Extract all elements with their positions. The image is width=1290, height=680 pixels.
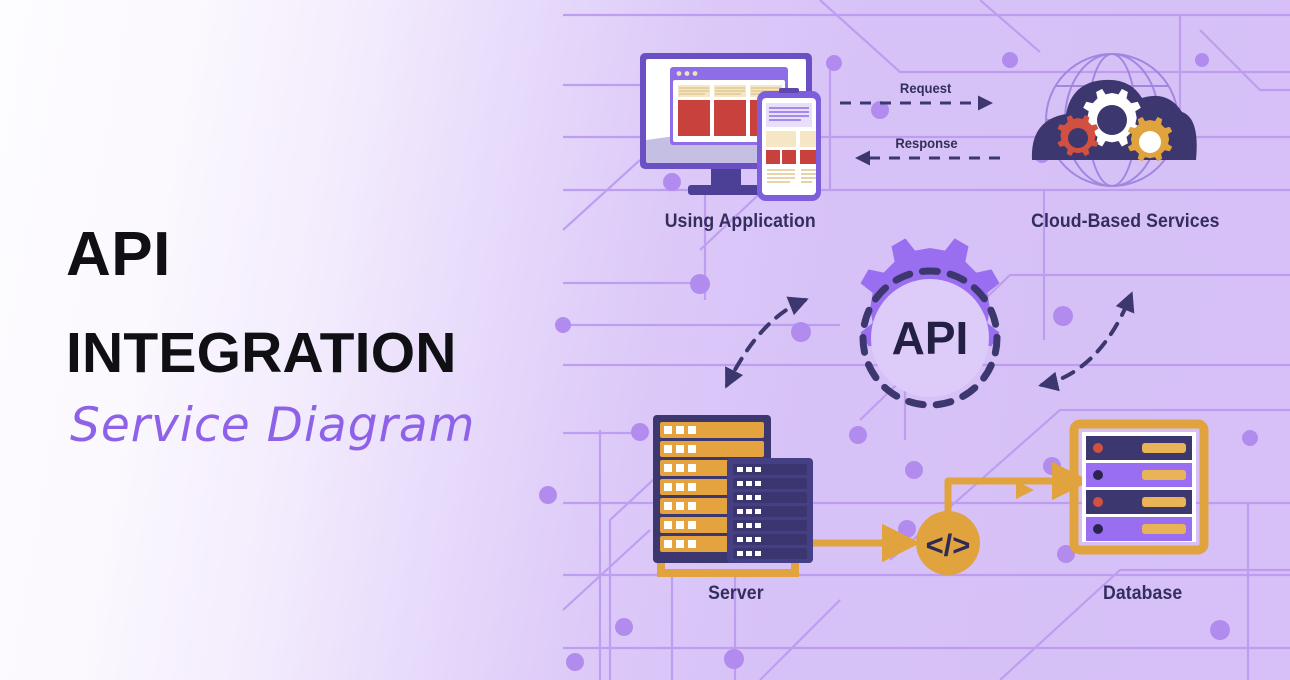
api-gear-node[interactable]: API (861, 238, 1000, 405)
label-server: Server (708, 583, 764, 605)
diagram-canvas: API INTEGRATION Service Diagram (0, 0, 1290, 680)
diagram-illustration: API (0, 0, 1290, 680)
label-using-application: Using Application (665, 211, 816, 233)
database-node[interactable] (1074, 424, 1204, 550)
label-request: Request (900, 80, 951, 96)
api-server-connector (727, 300, 805, 385)
code-to-database-connector (948, 481, 1075, 520)
label-response: Response (895, 135, 957, 151)
server-panel-rows (733, 464, 807, 559)
code-badge-label: </> (926, 528, 971, 563)
using-application-node[interactable] (640, 53, 821, 201)
label-database: Database (1103, 583, 1182, 605)
cloud-based-services-node[interactable] (1032, 54, 1197, 186)
api-gear-label: API (892, 312, 969, 364)
server-node[interactable] (653, 415, 813, 573)
label-cloud-based-services: Cloud-Based Services (1031, 211, 1219, 233)
api-cloud-connector (1042, 295, 1131, 385)
code-badge-node[interactable]: </> (916, 511, 980, 575)
